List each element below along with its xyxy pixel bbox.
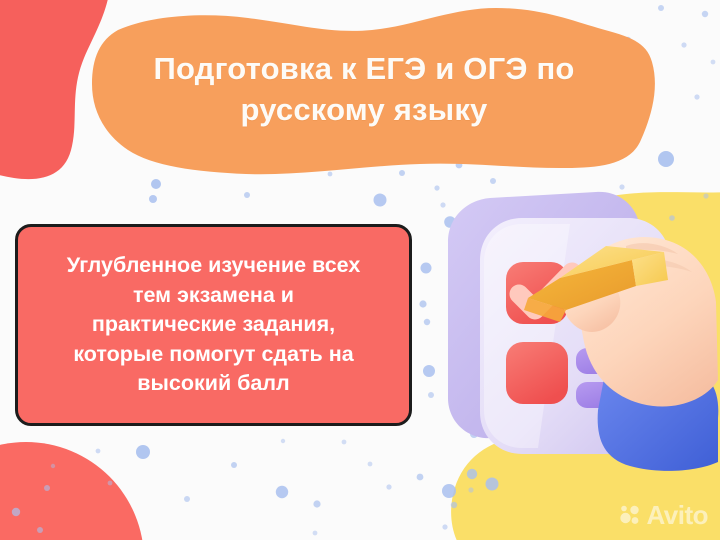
avito-wordmark: Avito bbox=[646, 502, 708, 528]
banner-title-line1: Подготовка к ЕГЭ и ОГЭ по bbox=[96, 48, 632, 89]
decorative-dot bbox=[468, 487, 473, 492]
decorative-dot bbox=[231, 462, 237, 468]
checklist-illustration bbox=[420, 190, 720, 480]
decorative-dot bbox=[374, 194, 387, 207]
avito-watermark: Avito bbox=[618, 502, 708, 528]
decorative-dot bbox=[711, 60, 716, 65]
description-card: Углубленное изучение всех тем экзамена и… bbox=[15, 224, 412, 426]
description-text: Углубленное изучение всех тем экзамена и… bbox=[18, 251, 409, 398]
decorative-dot bbox=[328, 172, 333, 177]
decorative-dot bbox=[281, 439, 285, 443]
decorative-dot bbox=[51, 464, 55, 468]
decorative-dot bbox=[276, 486, 288, 498]
decorative-dot bbox=[658, 151, 674, 167]
banner-title: Подготовка к ЕГЭ и ОГЭ по русскому языку bbox=[96, 48, 632, 130]
description-line1: Углубленное изучение всех bbox=[24, 251, 403, 280]
decorative-dot bbox=[451, 502, 457, 508]
decorative-dot bbox=[184, 496, 190, 502]
decorative-dot bbox=[658, 5, 664, 11]
decorative-dot bbox=[442, 484, 456, 498]
decorative-dot bbox=[12, 508, 20, 516]
decorative-dot bbox=[681, 42, 686, 47]
decorative-dot bbox=[619, 184, 624, 189]
decorative-dot bbox=[342, 440, 347, 445]
decorative-dot bbox=[456, 162, 463, 169]
decorative-dot bbox=[44, 485, 50, 491]
decorative-dot bbox=[694, 94, 699, 99]
description-line5: высокий балл bbox=[24, 369, 403, 398]
promo-banner: Подготовка к ЕГЭ и ОГЭ по русскому языку bbox=[0, 0, 720, 540]
decorative-dot bbox=[151, 179, 161, 189]
decorative-dot bbox=[313, 500, 320, 507]
decorative-dot bbox=[442, 524, 447, 529]
decorative-dot bbox=[625, 37, 631, 43]
decorative-dot bbox=[108, 481, 113, 486]
decorative-dot bbox=[313, 531, 318, 536]
decorative-dot bbox=[136, 445, 150, 459]
checkbox-empty bbox=[506, 342, 568, 404]
decorative-dot bbox=[386, 484, 391, 489]
avito-dots-icon bbox=[618, 503, 642, 527]
description-line3: практические задания, bbox=[24, 310, 403, 339]
decorative-dot bbox=[608, 144, 613, 149]
decorative-dot bbox=[244, 192, 250, 198]
decorative-dot bbox=[96, 449, 101, 454]
decorative-dot bbox=[368, 462, 373, 467]
description-line4: которые помогут сдать на bbox=[24, 340, 403, 369]
decorative-dot bbox=[490, 178, 496, 184]
decorative-dot bbox=[37, 527, 43, 533]
decorative-dot bbox=[702, 11, 708, 17]
description-line2: тем экзамена и bbox=[24, 281, 403, 310]
banner-title-line2: русскому языку bbox=[96, 89, 632, 130]
decorative-dot bbox=[399, 170, 405, 176]
decorative-dot bbox=[149, 195, 157, 203]
